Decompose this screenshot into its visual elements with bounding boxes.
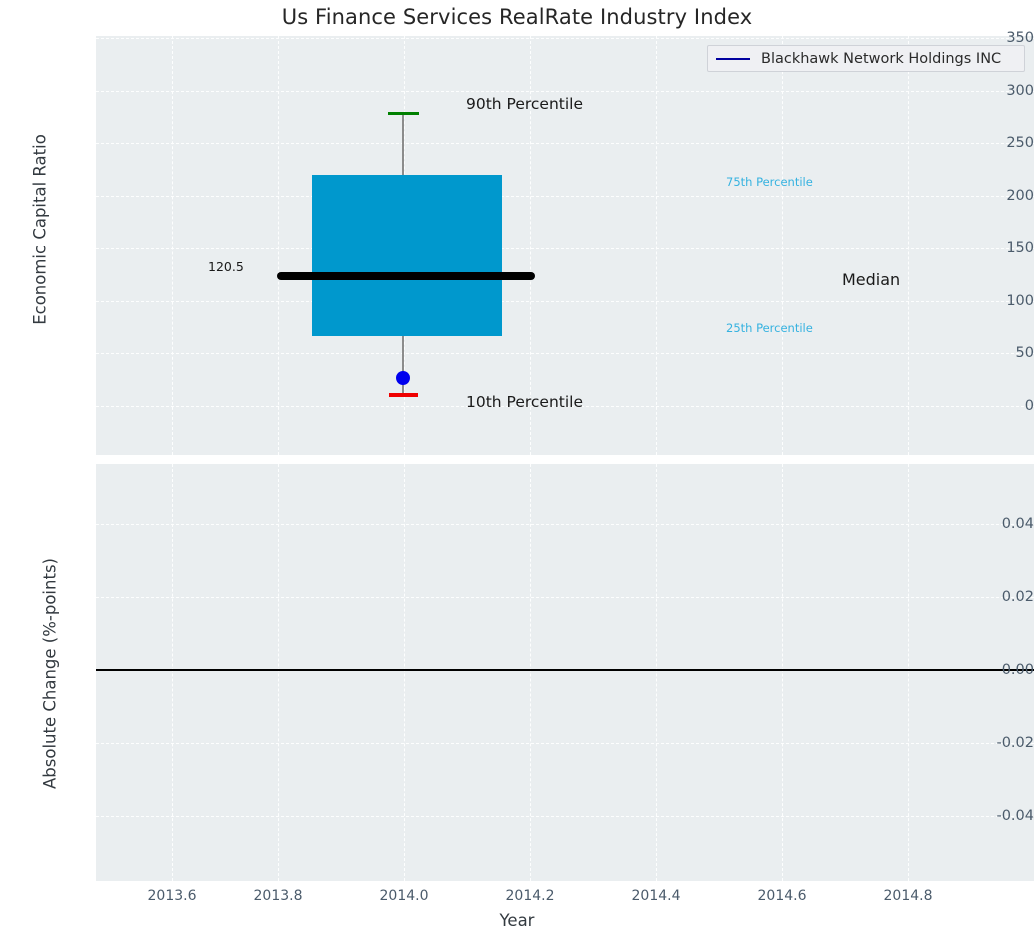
legend-line-icon (716, 58, 750, 60)
interquartile-box[interactable] (312, 175, 502, 336)
ytick-top: 250 (950, 135, 1034, 151)
gridline-v (404, 464, 405, 881)
gridline-v (782, 36, 783, 455)
legend-item-label: Blackhawk Network Holdings INC (761, 51, 1001, 67)
gridline-h (96, 353, 1034, 354)
p90-cap-marker (388, 112, 419, 115)
median-line (277, 272, 535, 280)
ytick-top: 50 (950, 345, 1034, 361)
xtick: 2014.4 (632, 888, 681, 904)
ytick-top: 100 (950, 293, 1034, 309)
ytick-top: 150 (950, 240, 1034, 256)
gridline-h (96, 91, 1034, 92)
xtick: 2013.8 (254, 888, 303, 904)
y-axis-label-bottom: Absolute Change (%-points) (41, 514, 60, 834)
panel-absolute-change (96, 464, 1034, 881)
x-axis-label: Year (0, 911, 1034, 930)
legend[interactable]: Blackhawk Network Holdings INC (707, 45, 1025, 72)
xtick: 2014.6 (758, 888, 807, 904)
ytick-bottom: 0.00 (950, 662, 1034, 678)
gridline-v (908, 36, 909, 455)
p10-cap-marker (389, 393, 418, 397)
xtick: 2013.6 (148, 888, 197, 904)
gridline-h (96, 743, 1034, 744)
gridline-h (96, 143, 1034, 144)
gridline-h (96, 248, 1034, 249)
gridline-v (908, 464, 909, 881)
gridline-v (530, 464, 531, 881)
gridline-h (96, 597, 1034, 598)
gridline-v (656, 464, 657, 881)
ytick-bottom: 0.04 (950, 516, 1034, 532)
ytick-top: 300 (950, 83, 1034, 99)
ytick-top: 350 (950, 30, 1034, 46)
annotation-10th-percentile: 10th Percentile (466, 393, 583, 411)
gridline-h (96, 816, 1034, 817)
ytick-top: 0 (950, 398, 1034, 414)
gridline-h (96, 301, 1034, 302)
gridline-v (782, 464, 783, 881)
gridline-v (278, 36, 279, 455)
ytick-bottom: -0.04 (950, 808, 1034, 824)
median-value-label: 120.5 (208, 259, 244, 274)
ytick-bottom: -0.02 (950, 735, 1034, 751)
zero-reference-line (96, 669, 1034, 671)
ytick-bottom: 0.02 (950, 589, 1034, 605)
gridline-v (172, 36, 173, 455)
annotation-90th-percentile: 90th Percentile (466, 95, 583, 113)
page-title: Us Finance Services RealRate Industry In… (0, 5, 1034, 29)
gridline-h (96, 524, 1034, 525)
annotation-median: Median (842, 270, 900, 289)
y-axis-label-top: Economic Capital Ratio (31, 100, 50, 360)
xtick: 2014.0 (380, 888, 429, 904)
ytick-top: 200 (950, 188, 1034, 204)
gridline-v (278, 464, 279, 881)
company-value-marker[interactable] (396, 371, 410, 385)
chart-figure: Us Finance Services RealRate Industry In… (0, 0, 1034, 942)
xtick: 2014.8 (884, 888, 933, 904)
gridline-v (656, 36, 657, 455)
annotation-25th-percentile: 25th Percentile (726, 321, 813, 335)
gridline-v (172, 464, 173, 881)
xtick: 2014.2 (506, 888, 555, 904)
gridline-h (96, 196, 1034, 197)
annotation-75th-percentile: 75th Percentile (726, 175, 813, 189)
gridline-h (96, 38, 1034, 39)
